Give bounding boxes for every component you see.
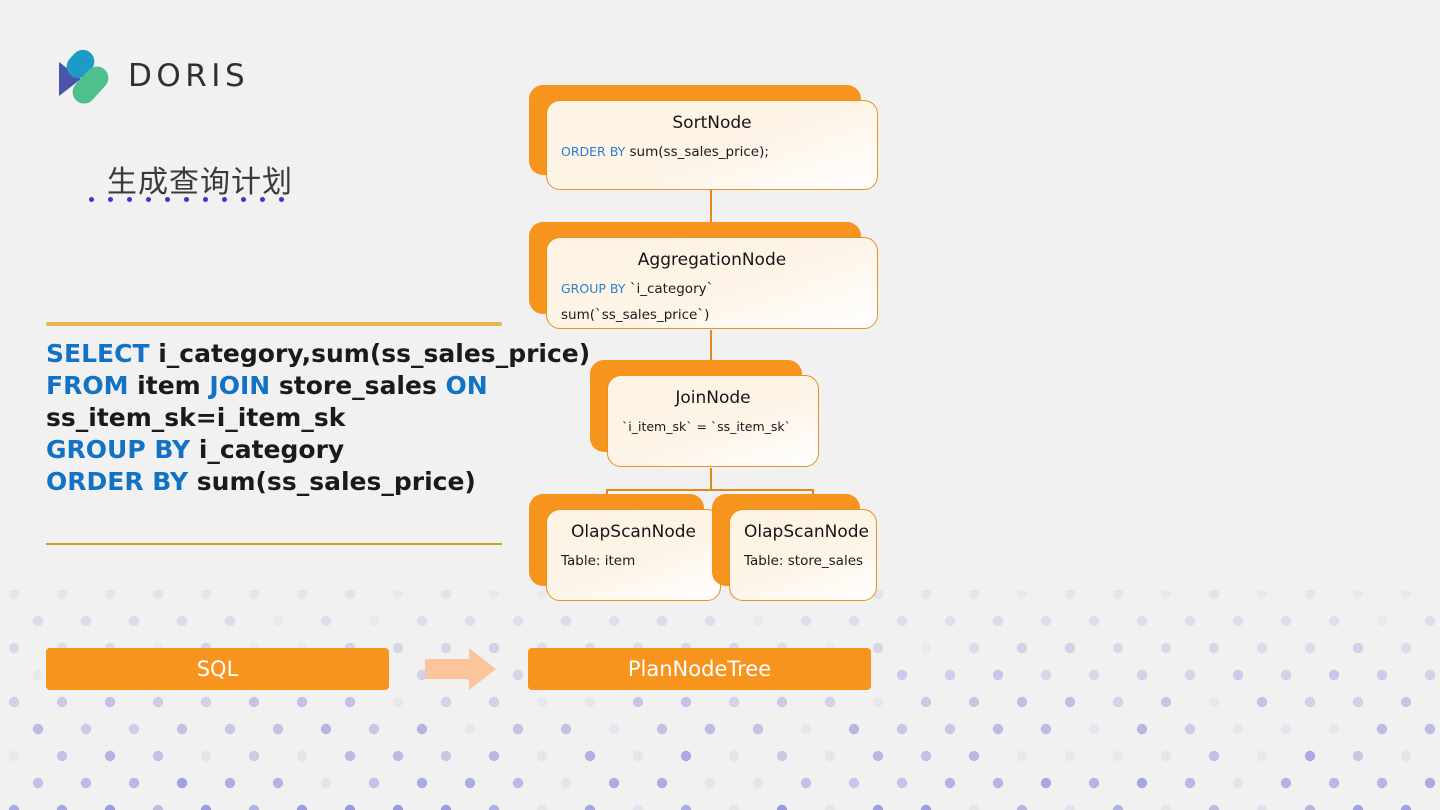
node-detail-line: `i_item_sk` = `ss_item_sk`: [622, 415, 804, 439]
node-text: Table: item: [561, 553, 635, 569]
node-detail-line: ORDER BY sum(ss_sales_price);: [561, 140, 863, 166]
node-keyword: GROUP BY: [561, 281, 625, 296]
node-body: SortNodeORDER BY sum(ss_sales_price);: [546, 100, 878, 190]
sort-node[interactable]: SortNodeORDER BY sum(ss_sales_price);: [529, 85, 861, 175]
olap-scan-node-item[interactable]: OlapScanNodeTable: item: [529, 494, 704, 586]
node-detail-line: Table: item: [561, 549, 706, 575]
node-body: OlapScanNodeTable: item: [546, 509, 721, 601]
node-text: Table: store_sales: [744, 553, 863, 569]
node-title: AggregationNode: [561, 250, 863, 270]
slide-canvas: DORIS 生成查询计划 SELECT i_category,sum(ss_sa…: [0, 0, 1440, 810]
connector-sort-to-agg: [710, 190, 712, 226]
node-body: AggregationNodeGROUP BY `i_category`sum(…: [546, 237, 878, 329]
join-node[interactable]: JoinNode`i_item_sk` = `ss_item_sk`: [590, 360, 802, 452]
node-title: OlapScanNode: [561, 522, 706, 542]
node-text: `i_item_sk` = `ss_item_sk`: [622, 419, 791, 434]
connector-join-stem: [710, 468, 712, 490]
aggregation-node[interactable]: AggregationNodeGROUP BY `i_category`sum(…: [529, 222, 861, 314]
node-keyword: ORDER BY: [561, 144, 625, 159]
node-body: OlapScanNodeTable: store_sales: [729, 509, 877, 601]
node-detail-line: sum(`ss_sales_price`): [561, 303, 863, 329]
node-detail-line: Table: store_sales: [744, 549, 862, 575]
right-arrow-icon: [423, 645, 498, 693]
node-body: JoinNode`i_item_sk` = `ss_item_sk`: [607, 375, 819, 467]
node-detail-line: GROUP BY `i_category`: [561, 277, 863, 303]
node-title: JoinNode: [622, 388, 804, 408]
connector-agg-to-join: [710, 330, 712, 362]
node-text: `i_category`: [625, 281, 713, 297]
node-title: SortNode: [561, 113, 863, 133]
node-title: OlapScanNode: [744, 522, 862, 542]
node-text: sum(`ss_sales_price`): [561, 307, 709, 323]
sql-label-bar[interactable]: SQL: [46, 648, 389, 690]
olap-scan-node-store-sales[interactable]: OlapScanNodeTable: store_sales: [712, 494, 860, 586]
plannodetree-label-bar[interactable]: PlanNodeTree: [528, 648, 871, 690]
node-text: sum(ss_sales_price);: [625, 144, 769, 160]
connector-join-split: [606, 489, 814, 491]
